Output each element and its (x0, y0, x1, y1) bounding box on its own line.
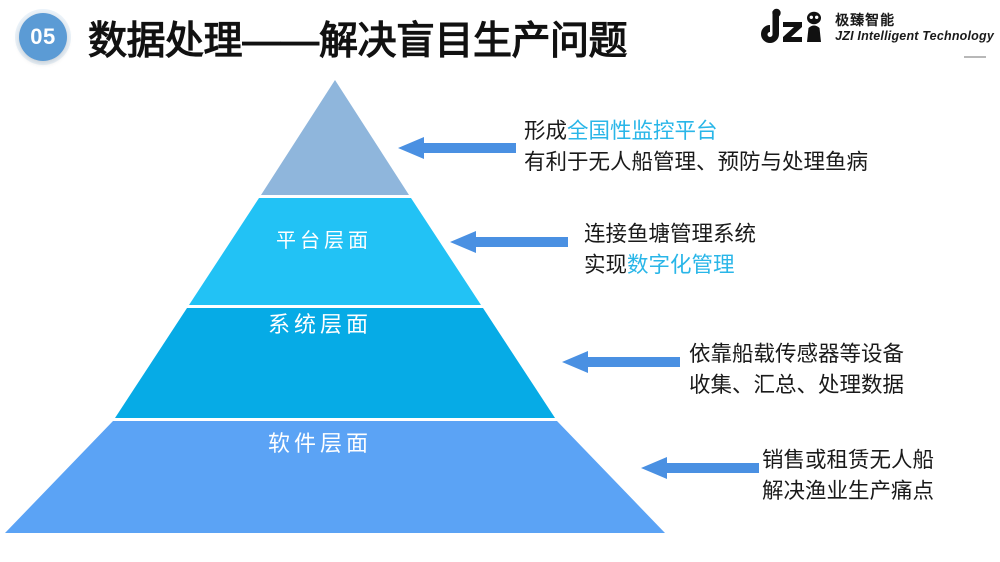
logo-underline-decoration (964, 56, 986, 58)
annotation-hardware-line1: 销售或租赁无人船 (762, 445, 934, 476)
annotation-platform: 形成全国性监控平台 有利于无人船管理、预防与处理鱼病 (524, 116, 868, 177)
arrow-left-system (450, 231, 568, 253)
jzi-logomark-icon (757, 8, 827, 48)
annotation-software-line2-plain: 收集、汇总、处理数据 (689, 373, 904, 397)
annotation-hardware-line1-plain: 销售或租赁无人船 (762, 448, 934, 472)
pyramid-layer-hardware (5, 421, 665, 533)
annotation-system: 连接鱼塘管理系统 实现数字化管理 (584, 219, 756, 280)
logo-company-cn: 极臻智能 (835, 13, 994, 29)
annotation-platform-line1-highlight: 全国性监控平台 (567, 119, 718, 143)
annotation-system-line2-highlight: 数字化管理 (627, 253, 735, 277)
annotation-software-line1: 依靠船载传感器等设备 (689, 339, 904, 370)
logo-company-en: JZI Intelligent Technology (835, 29, 994, 43)
company-logo: 极臻智能 JZI Intelligent Technology (757, 8, 994, 48)
arrow-left-hardware (641, 457, 759, 479)
annotation-hardware: 销售或租赁无人船 解决渔业生产痛点 (762, 445, 934, 506)
section-number-badge: 05 (19, 13, 67, 61)
slide-canvas: 05 数据处理——解决盲目生产问题 极臻智能 (0, 0, 1000, 562)
annotation-software-line2: 收集、汇总、处理数据 (689, 370, 904, 401)
annotation-hardware-line2-plain: 解决渔业生产痛点 (762, 479, 934, 503)
annotation-system-line1-plain: 连接鱼塘管理系统 (584, 222, 756, 246)
annotation-platform-line2-plain: 有利于无人船管理、预防与处理鱼病 (524, 150, 868, 174)
logo-wordmark: 极臻智能 JZI Intelligent Technology (835, 13, 994, 43)
annotation-software-line1-plain: 依靠船载传感器等设备 (689, 342, 904, 366)
pyramid-layer-platform (261, 80, 409, 195)
annotation-system-line1: 连接鱼塘管理系统 (584, 219, 756, 250)
page-title: 数据处理——解决盲目生产问题 (88, 10, 627, 66)
annotation-platform-line2: 有利于无人船管理、预防与处理鱼病 (524, 147, 868, 178)
annotation-software: 依靠船载传感器等设备 收集、汇总、处理数据 (689, 339, 904, 400)
arrow-left-platform (398, 137, 516, 159)
annotation-hardware-line2: 解决渔业生产痛点 (762, 476, 934, 507)
annotation-platform-line1-plain: 形成 (524, 119, 567, 143)
annotation-system-line2-plain: 实现 (584, 253, 627, 277)
annotation-platform-line1: 形成全国性监控平台 (524, 116, 868, 147)
arrow-left-software (562, 351, 680, 373)
pyramid-layer-system (189, 198, 481, 305)
pyramid-layer-software (115, 308, 555, 418)
slide-header: 05 数据处理——解决盲目生产问题 极臻智能 (0, 0, 1000, 76)
section-number-text: 05 (30, 26, 55, 48)
annotation-system-line2: 实现数字化管理 (584, 250, 756, 281)
